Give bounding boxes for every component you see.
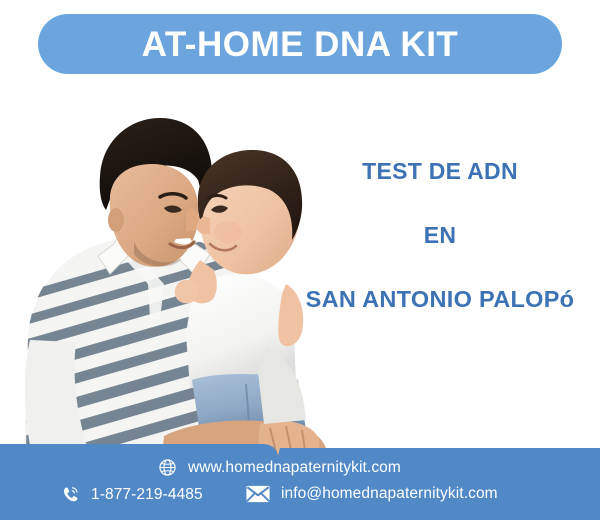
poster-canvas: AT-HOME DNA KIT <box>0 0 600 520</box>
headline-line-3: SAN ANTONIO PALOPó <box>290 288 590 312</box>
headline-line-2: EN <box>290 224 590 247</box>
phone-icon <box>61 485 80 504</box>
envelope-icon <box>246 485 270 503</box>
header-banner: AT-HOME DNA KIT <box>38 14 562 74</box>
headline-line-1: TEST DE ADN <box>290 160 590 183</box>
globe-icon <box>158 458 177 477</box>
footer-email-text: info@homednapaternitykit.com <box>281 486 498 502</box>
footer-phone-text: 1-877-219-4485 <box>91 487 203 503</box>
headline-block: TEST DE ADN EN SAN ANTONIO PALOPó <box>290 160 590 312</box>
footer-website-row[interactable]: www.homednapaternitykit.com <box>158 458 401 477</box>
footer-phone-row[interactable]: 1-877-219-4485 <box>61 485 203 504</box>
footer-contact-bar: www.homednapaternitykit.com 1-877-219-44… <box>0 430 600 520</box>
page-title: AT-HOME DNA KIT <box>142 27 459 62</box>
footer-email-row[interactable]: info@homednapaternitykit.com <box>246 485 498 503</box>
hero-photo <box>14 84 332 456</box>
footer-website-text: www.homednapaternitykit.com <box>188 460 401 476</box>
father-and-child-photo <box>14 84 332 456</box>
